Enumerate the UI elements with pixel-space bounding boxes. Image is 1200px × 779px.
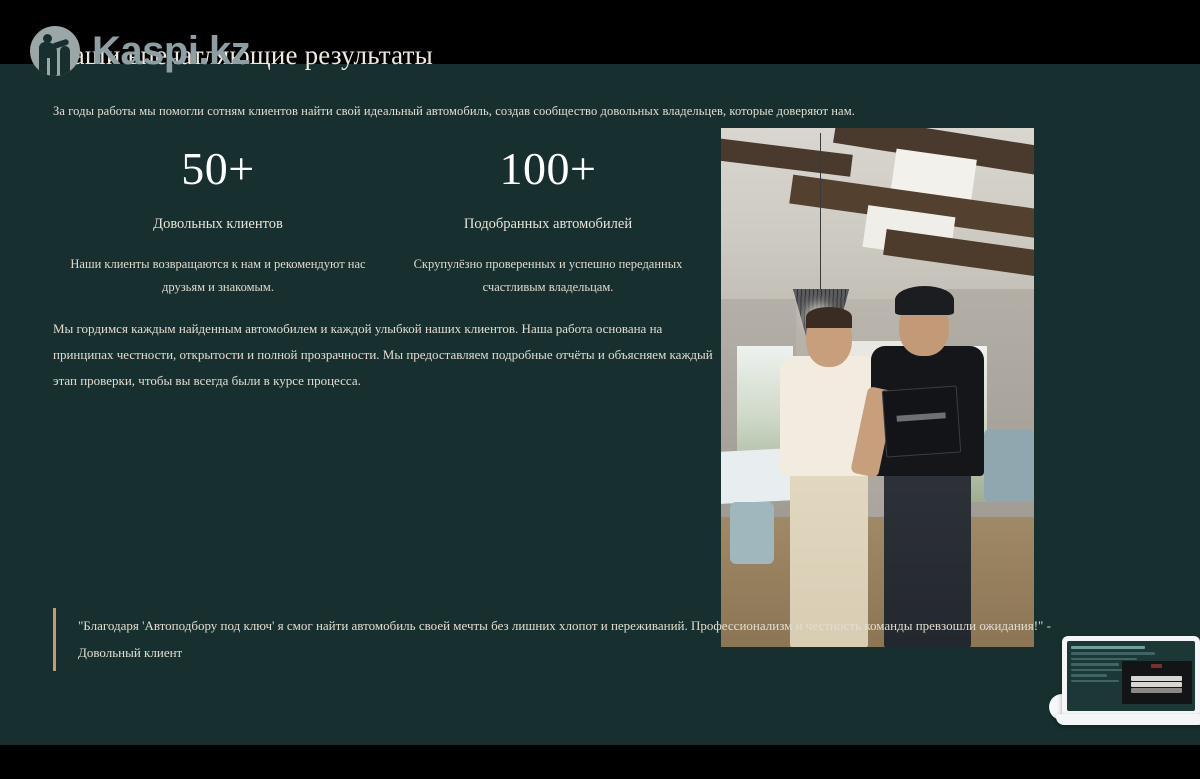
stats-row: 50+ Довольных клиентов Наши клиенты возв… (53, 140, 713, 299)
stat-card-clients: 50+ Довольных клиентов Наши клиенты возв… (53, 140, 383, 299)
mockup-text-line (1071, 652, 1155, 655)
mockup-image-card (1122, 661, 1192, 704)
laptop-base (1056, 714, 1200, 725)
stat-card-cars: 100+ Подобранных автомобилей Скрупулёзно… (383, 140, 713, 299)
mockup-text-line (1071, 663, 1119, 666)
mockup-card-bar (1131, 682, 1182, 687)
photo-person-right-cap (895, 286, 954, 315)
laptop-screen (1067, 641, 1195, 711)
kaspi-logo-text: Kaspi.kz (92, 29, 250, 74)
logo-figure-gap (47, 58, 50, 76)
testimonial-quote: "Благодаря 'Автоподбору под ключ' я смог… (53, 608, 1083, 671)
stat-value: 50+ (61, 140, 375, 198)
kaspi-logo[interactable]: Kaspi.kz (30, 26, 250, 76)
mockup-text-line (1071, 674, 1107, 677)
slide-screenshot: Наши впечатляющие результаты За годы раб… (0, 0, 1200, 779)
lead-paragraph: За годы работы мы помогли сотням клиенто… (53, 104, 1013, 119)
laptop-lid (1062, 636, 1200, 716)
photo-lamp-cord (820, 133, 822, 299)
mockup-text-line (1071, 680, 1119, 683)
kaspi-circle-figure-icon (30, 26, 80, 76)
laptop-mockup (1062, 636, 1200, 732)
stat-value: 100+ (391, 140, 705, 198)
mockup-card-badge (1151, 664, 1162, 667)
body-paragraph: Мы гордимся каждым найденным автомобилем… (53, 316, 713, 394)
photo-person-left-hair (806, 307, 853, 328)
stat-description: Наши клиенты возвращаются к нам и рекоме… (61, 253, 375, 299)
photo-certificate-plaque (881, 385, 961, 458)
logo-figure-child (60, 46, 70, 76)
photo-chair-right (984, 429, 1034, 502)
stat-label: Довольных клиентов (61, 216, 375, 233)
stat-description: Скрупулёзно проверенных и успешно переда… (391, 253, 705, 299)
mockup-heading-line (1071, 646, 1145, 649)
mockup-card-bar (1131, 688, 1182, 693)
team-photo (721, 128, 1034, 647)
photo-chair-left (730, 502, 774, 564)
mockup-text-line (1071, 658, 1137, 661)
stat-label: Подобранных автомобилей (391, 216, 705, 233)
bottom-letterbox-band (0, 745, 1200, 779)
mockup-card-bar (1131, 676, 1182, 681)
slide-content: Наши впечатляющие результаты За годы раб… (0, 0, 1200, 681)
